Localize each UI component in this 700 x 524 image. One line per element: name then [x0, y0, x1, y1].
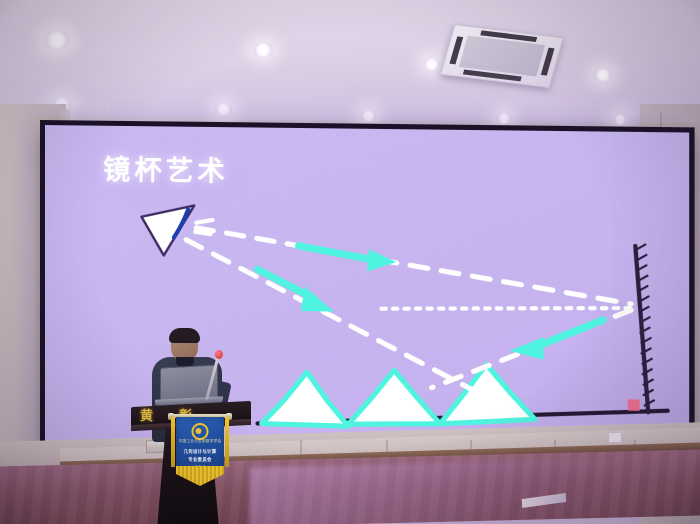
downlight-6 [215, 103, 232, 116]
downlight-2 [253, 42, 273, 58]
banner-line-1: 中国工业与应用数学学会 [176, 439, 224, 444]
right-angle-marker [628, 399, 640, 411]
floor-light-reflection [250, 457, 700, 524]
screen-side-plate [608, 432, 622, 443]
downlight-7 [361, 110, 376, 122]
downlight-1 [44, 30, 70, 50]
ray-upper-dashed [196, 228, 631, 304]
downlight-9 [613, 114, 627, 125]
organization-logo-icon [192, 423, 209, 440]
downlight-4 [594, 68, 612, 82]
podium-banner: 中国工业与应用数学学会 几何设计与计算 专业委员会 GDC [176, 414, 224, 490]
ray-virtual-dotted [382, 303, 631, 315]
ray-lower-dashed [186, 240, 520, 415]
glasses-icon [172, 341, 197, 349]
downlight-8 [497, 113, 511, 124]
arrow-lower-down-icon [258, 269, 334, 311]
arrow-reflected-left-icon [510, 318, 604, 362]
banner-line-3: 专业委员会 [176, 457, 224, 463]
banner-fringe [176, 466, 224, 486]
arrow-upper-right-icon [299, 246, 396, 272]
banner-cord-left [171, 417, 175, 467]
downlight-3 [423, 58, 440, 71]
banner-cord-right [225, 417, 229, 467]
podium-glyph-left: 黄 [140, 405, 153, 424]
peak-2 [348, 369, 440, 427]
peak-1 [262, 371, 349, 426]
banner-line-2: 几何设计与计算 [176, 449, 224, 455]
lecture-hall-photo: 镜杯艺术 [0, 0, 700, 524]
microphone-head [215, 350, 223, 359]
mirror-hatched [635, 244, 654, 413]
